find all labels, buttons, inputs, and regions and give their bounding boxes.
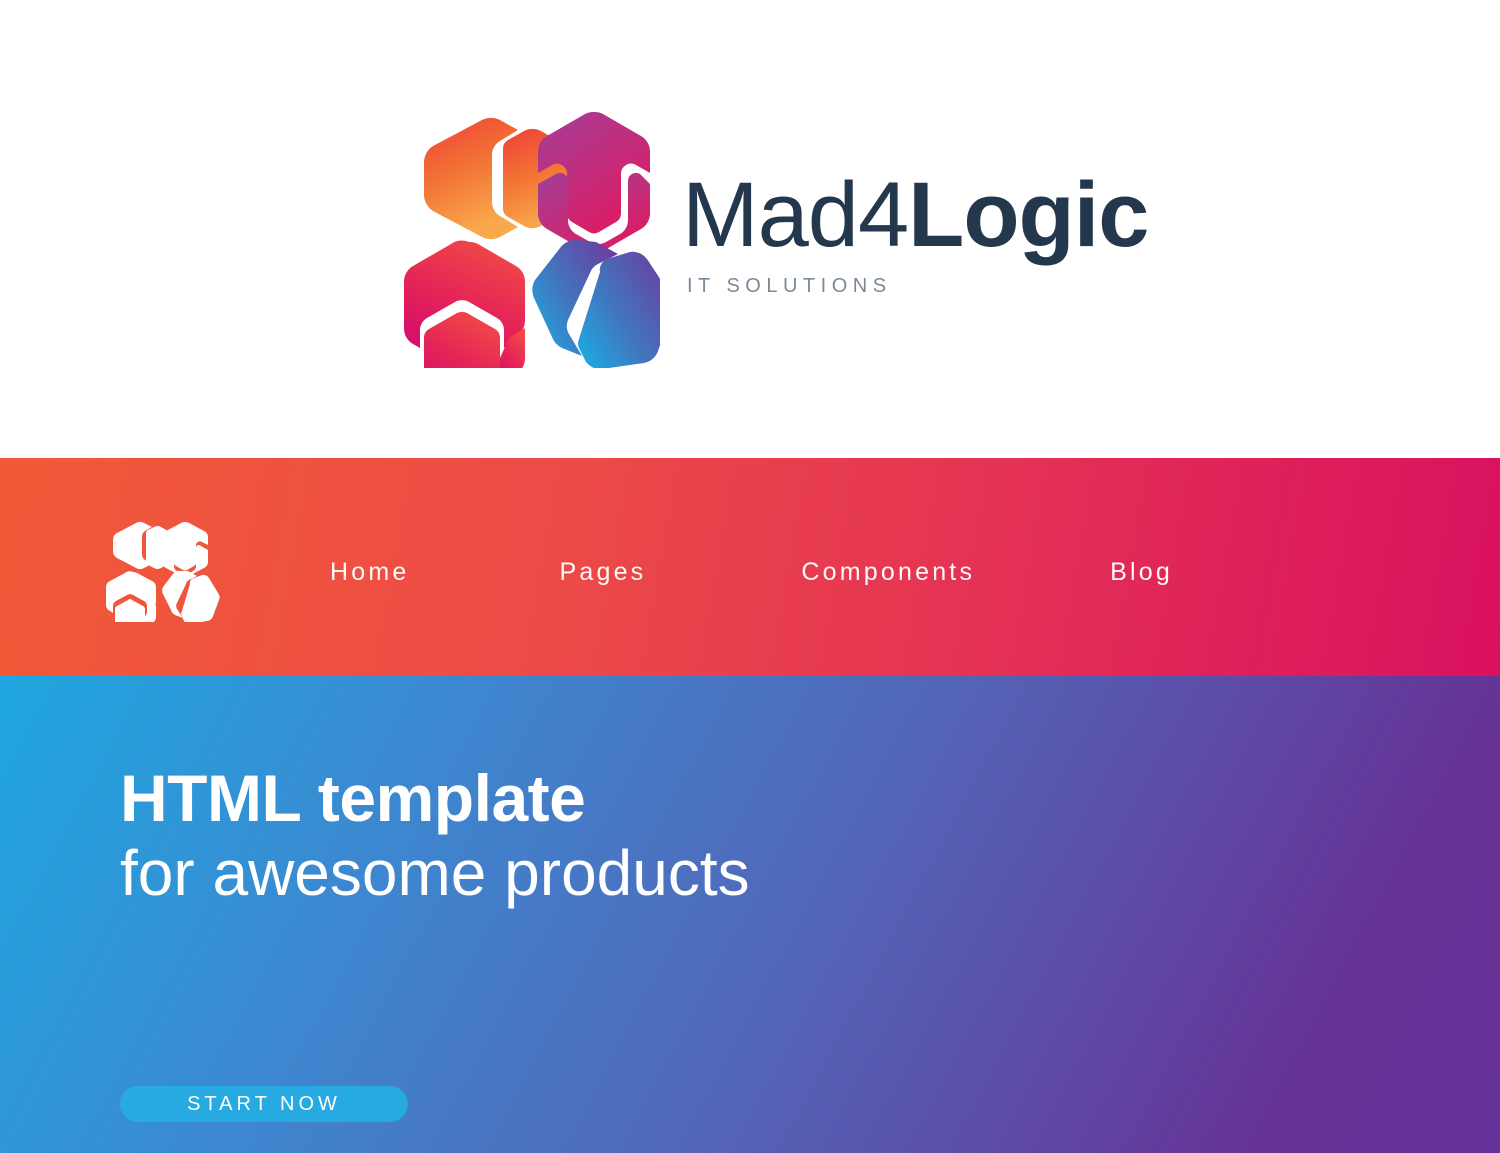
hero-cta-wrapper: START NOW bbox=[120, 1086, 408, 1122]
brand-wordmark: Mad4Logic IT SOLUTIONS bbox=[682, 170, 1148, 305]
brand-name-light: Mad4 bbox=[682, 164, 908, 266]
hero-headline: HTML template for awesome products bbox=[120, 764, 750, 910]
brand-lockup[interactable]: Mad4Logic IT SOLUTIONS bbox=[396, 108, 1148, 368]
brand-name-bold: Logic bbox=[908, 164, 1148, 266]
brand-name: Mad4Logic bbox=[682, 170, 1148, 260]
navbar: Home Pages Components Blog bbox=[0, 458, 1500, 676]
brand-tagline: IT SOLUTIONS bbox=[687, 275, 1148, 298]
four-hexagons-nav-icon[interactable] bbox=[104, 520, 220, 622]
start-now-button[interactable]: START NOW bbox=[120, 1086, 408, 1122]
four-hexagons-logo-icon bbox=[396, 108, 660, 368]
nav-item-components[interactable]: Components bbox=[801, 558, 975, 587]
nav-item-blog[interactable]: Blog bbox=[1110, 558, 1173, 587]
nav-item-home[interactable]: Home bbox=[330, 558, 410, 587]
hero-headline-light: for awesome products bbox=[120, 838, 750, 910]
nav-item-pages[interactable]: Pages bbox=[560, 558, 647, 587]
main-navigation: Home Pages Components Blog bbox=[330, 558, 1173, 587]
hero-headline-bold: HTML template bbox=[120, 764, 750, 834]
hero-section: HTML template for awesome products START… bbox=[0, 676, 1500, 1153]
logo-banner: Mad4Logic IT SOLUTIONS bbox=[0, 0, 1500, 458]
